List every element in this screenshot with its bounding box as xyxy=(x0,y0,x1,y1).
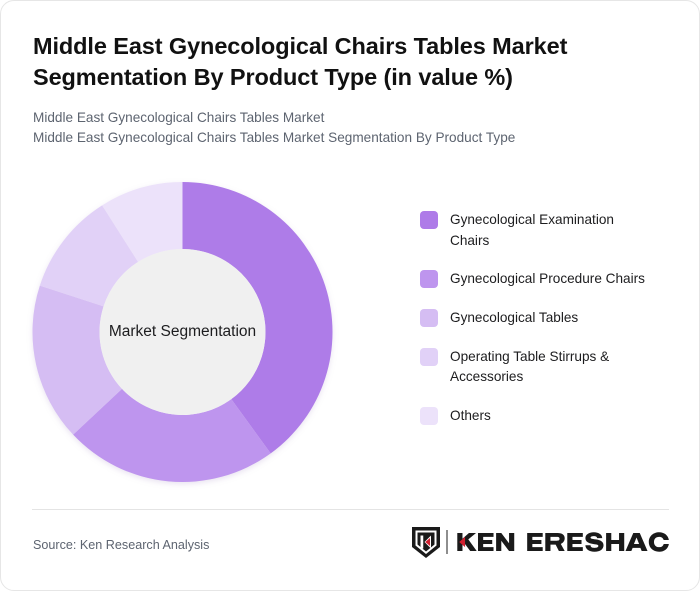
logo-divider xyxy=(446,530,448,554)
footer-divider xyxy=(32,509,669,510)
page-title: Middle East Gynecological Chairs Tables … xyxy=(33,31,633,93)
legend-swatch-icon xyxy=(420,407,438,425)
ken-research-logo xyxy=(411,525,670,559)
subtitle-line-2: Middle East Gynecological Chairs Tables … xyxy=(33,128,633,149)
legend-item[interactable]: Gynecological Examination Chairs xyxy=(420,210,670,251)
legend-item-label: Gynecological Tables xyxy=(450,308,578,329)
chart-card: Middle East Gynecological Chairs Tables … xyxy=(0,0,700,591)
source-text: Source: Ken Research Analysis xyxy=(33,538,209,552)
subtitle-block: Middle East Gynecological Chairs Tables … xyxy=(33,108,633,149)
subtitle-line-1: Middle East Gynecological Chairs Tables … xyxy=(33,108,633,129)
legend-item[interactable]: Gynecological Tables xyxy=(420,308,670,329)
legend-item[interactable]: Others xyxy=(420,406,670,427)
shield-k-logo-icon xyxy=(411,526,441,559)
ken-research-wordmark xyxy=(456,531,670,553)
legend-swatch-icon xyxy=(420,309,438,327)
donut-center-hole xyxy=(100,249,266,415)
legend-item-label: Gynecological Examination Chairs xyxy=(450,210,655,251)
legend-item-label: Gynecological Procedure Chairs xyxy=(450,269,645,290)
legend-item[interactable]: Gynecological Procedure Chairs xyxy=(420,269,670,290)
legend-swatch-icon xyxy=(420,348,438,366)
legend-item-label: Operating Table Stirrups & Accessories xyxy=(450,347,655,388)
legend-swatch-icon xyxy=(420,270,438,288)
header: Middle East Gynecological Chairs Tables … xyxy=(33,31,633,149)
chart-legend: Gynecological Examination ChairsGynecolo… xyxy=(420,210,670,445)
donut-chart[interactable] xyxy=(21,171,344,493)
legend-item[interactable]: Operating Table Stirrups & Accessories xyxy=(420,347,670,388)
legend-swatch-icon xyxy=(420,211,438,229)
legend-item-label: Others xyxy=(450,406,491,427)
